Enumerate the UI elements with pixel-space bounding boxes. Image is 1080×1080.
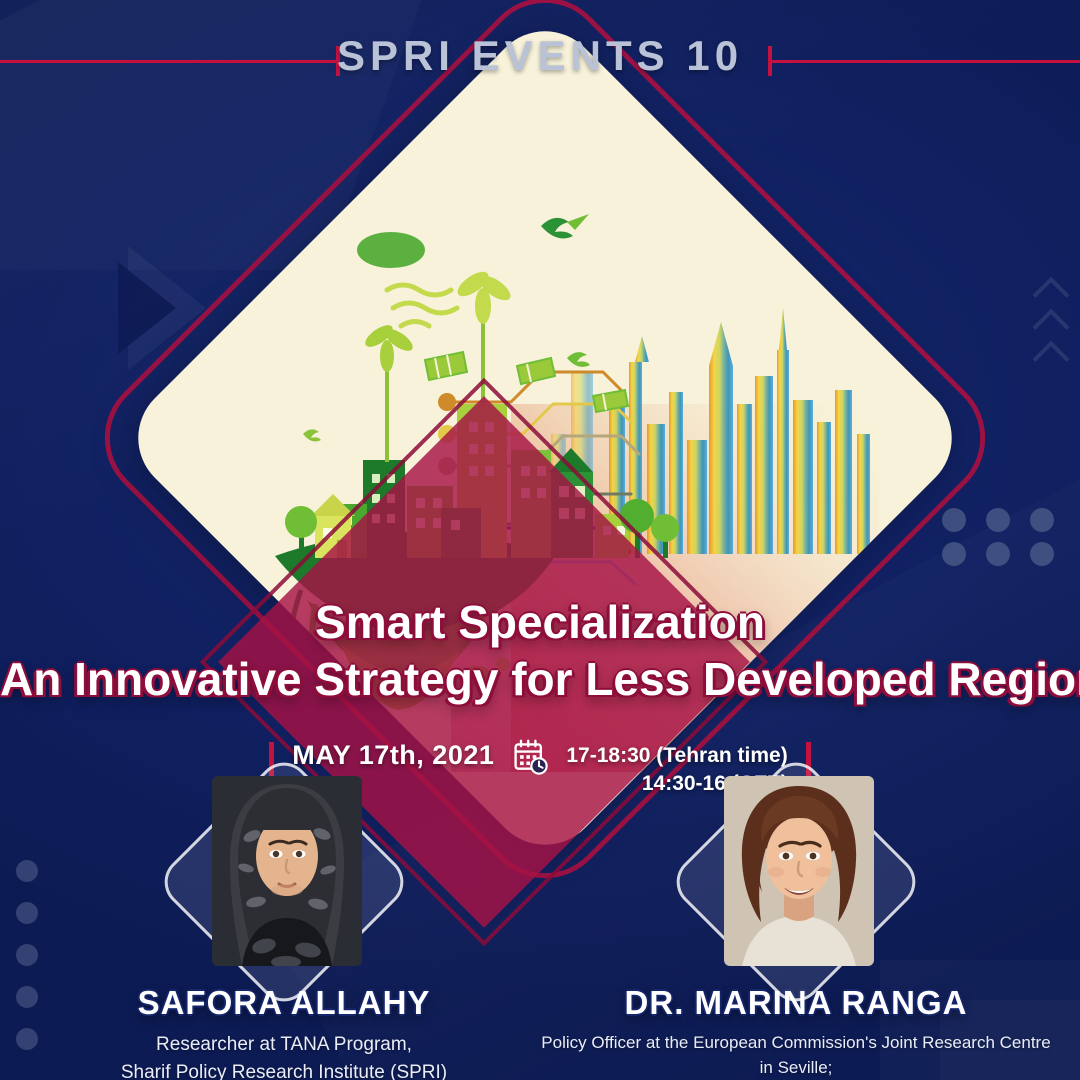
event-time-primary: 17-18:30 (Tehran time) (566, 742, 787, 770)
chevron-up-group (1038, 282, 1064, 378)
chevron-up-icon (1033, 341, 1070, 378)
header-rule-left (0, 60, 338, 63)
event-date: MAY 17th, 2021 (292, 740, 494, 771)
portrait-frame (184, 782, 384, 982)
chevron-right-inner-icon (118, 262, 176, 354)
speaker-role-line-1: Policy Officer at the European Commissio… (536, 1031, 1056, 1080)
portrait-frame (696, 782, 896, 982)
speaker-role: Policy Officer at the European Commissio… (536, 1031, 1056, 1080)
speaker-role-line-2: Sharif Policy Research Institute (SPRI) (24, 1059, 544, 1080)
speaker-role-line-1: Researcher at TANA Program, (24, 1031, 544, 1059)
portrait-marina-ranga (724, 776, 874, 966)
dot (1030, 508, 1054, 532)
calendar-clock-icon (512, 738, 548, 776)
event-poster: SPRI EVENTS 10 (0, 0, 1080, 1080)
speaker-role: Researcher at TANA Program, Sharif Polic… (24, 1031, 544, 1080)
header-title: SPRI EVENTS 10 (337, 32, 743, 80)
speaker-card-safora-allahy: SAFORA ALLAHY Researcher at TANA Program… (24, 782, 544, 1080)
avatar (212, 776, 362, 966)
dot (986, 508, 1010, 532)
page-title: Smart Specialization An Innovative Strat… (0, 596, 1080, 707)
dot-grid-decoration (942, 508, 1064, 566)
poster-header: SPRI EVENTS 10 (0, 0, 1080, 120)
title-line-1: Smart Specialization (0, 596, 1080, 649)
avatar (724, 776, 874, 966)
title-line-2: An Innovative Strategy for Less Develope… (0, 653, 1080, 706)
speaker-card-marina-ranga: DR. MARINA RANGA Policy Officer at the E… (536, 782, 1056, 1080)
dot (942, 508, 966, 532)
dot (942, 542, 966, 566)
dot (986, 542, 1010, 566)
portrait-safora-allahy (212, 776, 362, 966)
dot (1030, 542, 1054, 566)
header-rule-right (770, 60, 1080, 63)
